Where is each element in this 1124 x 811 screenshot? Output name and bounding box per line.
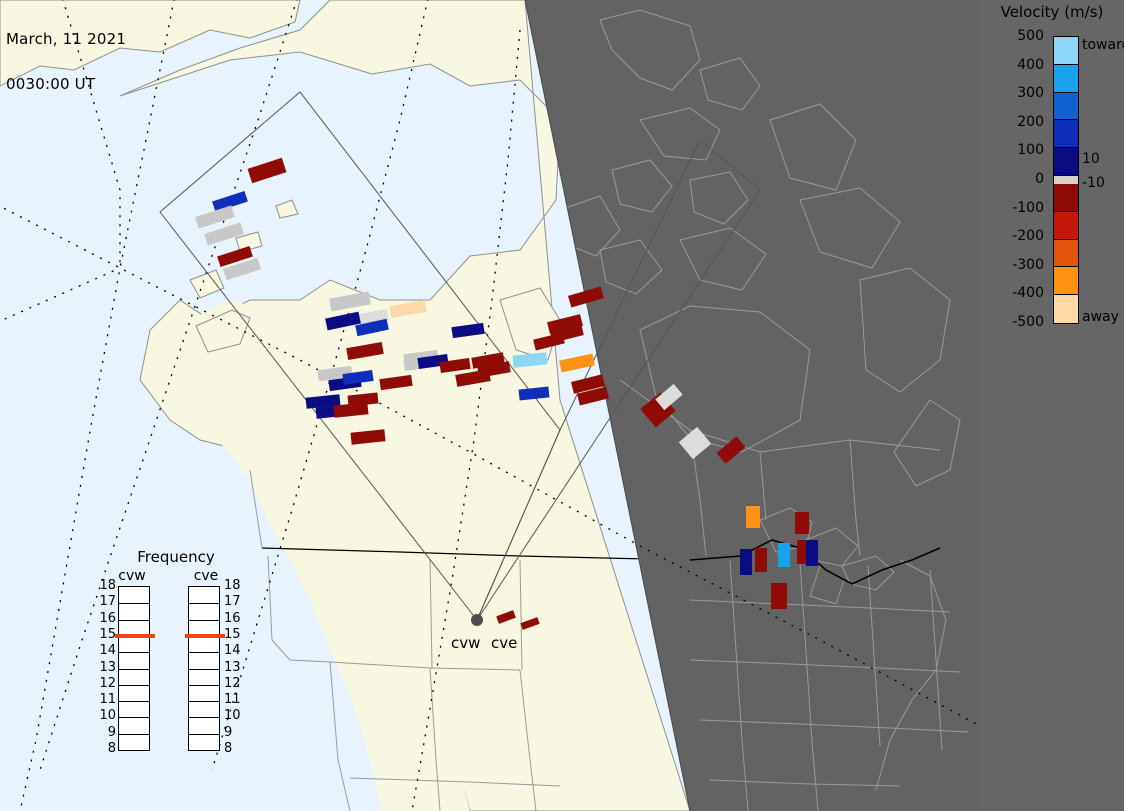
radar-site-label-cvw: cvw <box>451 634 480 652</box>
frequency-tick-cve-15: 15 <box>224 630 246 640</box>
velocity-gate-cell <box>740 549 752 575</box>
frequency-gridline <box>189 603 219 604</box>
frequency-gridline <box>119 620 149 621</box>
frequency-tick-cvw-12: 12 <box>94 679 116 689</box>
colorbar-tick--400: -400 <box>1012 286 1044 300</box>
colorbar-segment-0 <box>1054 37 1078 65</box>
frequency-gridline <box>119 669 149 670</box>
frequency-tick-cve-9: 9 <box>224 728 246 738</box>
colorbar-segment-2 <box>1054 93 1078 121</box>
frequency-ticklabels-cvw: 18171615141312111098 <box>94 586 116 751</box>
velocity-gate-cell <box>755 548 767 572</box>
frequency-gridline <box>189 669 219 670</box>
frequency-tick-cve-13: 13 <box>224 663 246 673</box>
frequency-gridline <box>189 734 219 735</box>
timestamp-time: 0030:00 UT <box>6 77 126 92</box>
colorbar-tick-400: 400 <box>1017 58 1044 72</box>
frequency-gridline <box>119 685 149 686</box>
frequency-tick-cvw-18: 18 <box>94 581 116 591</box>
colorbar-neutral-band <box>1054 176 1078 184</box>
frequency-tick-cve-8: 8 <box>224 744 246 754</box>
frequency-tick-cvw-11: 11 <box>94 695 116 705</box>
colorbar-title: Velocity (m/s) <box>978 3 1124 21</box>
frequency-column-cvw: cvw 18171615141312111098 <box>96 568 156 751</box>
colorbar-tick--200: -200 <box>1012 229 1044 243</box>
frequency-tick-cve-18: 18 <box>224 581 246 591</box>
velocity-gate-cell <box>746 506 760 528</box>
colorbar-away-label: away <box>1082 310 1119 324</box>
colorbar-tick-labels: 5004003002001000-100-200-300-400-500 <box>980 28 1048 328</box>
frequency-gridline <box>189 652 219 653</box>
velocity-gate-cell <box>778 543 790 567</box>
colorbar-tick--100: -100 <box>1012 201 1044 215</box>
frequency-tick-cvw-15: 15 <box>94 630 116 640</box>
colorbar-tick-200: 200 <box>1017 115 1044 129</box>
colorbar-side-labels: toward 10 -10 away <box>1082 28 1124 328</box>
frequency-column-label-cve: cve <box>188 568 224 584</box>
frequency-bar-cve <box>188 586 220 751</box>
colorbar-segment-1 <box>1054 65 1078 93</box>
colorbar-segment-9 <box>1054 267 1078 295</box>
frequency-tick-cvw-17: 17 <box>94 597 116 607</box>
superdarn-map-figure: cvw cve March, 11 2021 0030:00 UT Freque… <box>0 0 1124 811</box>
frequency-tick-cve-12: 12 <box>224 679 246 689</box>
frequency-column-label-cvw: cvw <box>114 568 150 584</box>
colorbar-toward-label: toward <box>1082 38 1124 52</box>
frequency-gridline <box>119 603 149 604</box>
colorbar-segment-7 <box>1054 212 1078 240</box>
frequency-tick-cve-11: 11 <box>224 695 246 705</box>
frequency-tick-cvw-9: 9 <box>94 728 116 738</box>
frequency-tick-cvw-10: 10 <box>94 711 116 721</box>
colorbar-tick-100: 100 <box>1017 143 1044 157</box>
frequency-tick-cvw-14: 14 <box>94 646 116 656</box>
frequency-tick-cvw-8: 8 <box>94 744 116 754</box>
colorbar-threshold-lower: -10 <box>1082 176 1105 190</box>
frequency-gridline <box>189 701 219 702</box>
colorbar-gradient[interactable] <box>1053 36 1079 324</box>
frequency-tick-cvw-13: 13 <box>94 663 116 673</box>
frequency-bar-cvw <box>118 586 150 751</box>
velocity-gate-cell <box>795 512 809 534</box>
frequency-gridline <box>189 620 219 621</box>
frequency-column-cve: cve 18171615141312111098 <box>174 568 234 751</box>
colorbar-tick-500: 500 <box>1017 29 1044 43</box>
radar-site-marker[interactable] <box>471 614 483 626</box>
frequency-tick-cve-14: 14 <box>224 646 246 656</box>
frequency-gridline <box>119 734 149 735</box>
velocity-gate-cell <box>771 583 787 609</box>
colorbar-segment-10 <box>1054 295 1078 323</box>
frequency-gridline <box>189 685 219 686</box>
colorbar-segment-6 <box>1054 184 1078 212</box>
frequency-marker-cvw <box>115 634 155 638</box>
radar-site-label-cve: cve <box>491 634 517 652</box>
colorbar-tick--300: -300 <box>1012 258 1044 272</box>
frequency-tick-cve-17: 17 <box>224 597 246 607</box>
velocity-gate-cell <box>806 540 818 566</box>
frequency-gridline <box>189 717 219 718</box>
colorbar-tick-0: 0 <box>1035 172 1044 186</box>
frequency-gridline <box>119 717 149 718</box>
frequency-title: Frequency <box>100 548 252 566</box>
frequency-gridline <box>119 652 149 653</box>
frequency-tick-cve-16: 16 <box>224 614 246 624</box>
timestamp: March, 11 2021 0030:00 UT <box>6 2 126 122</box>
colorbar-tick-300: 300 <box>1017 86 1044 100</box>
frequency-tick-cve-10: 10 <box>224 711 246 721</box>
colorbar-tick--500: -500 <box>1012 315 1044 329</box>
timestamp-date: March, 11 2021 <box>6 32 126 47</box>
colorbar-threshold-upper: 10 <box>1082 152 1100 166</box>
colorbar-segment-8 <box>1054 240 1078 268</box>
frequency-tick-cvw-16: 16 <box>94 614 116 624</box>
frequency-legend: Frequency cvw 18171615141312111098 cve 1… <box>96 548 256 768</box>
frequency-gridline <box>119 701 149 702</box>
colorbar-segment-3 <box>1054 120 1078 148</box>
colorbar-segment-4 <box>1054 148 1078 176</box>
frequency-ticklabels-cve: 18171615141312111098 <box>224 586 246 751</box>
colorbar-panel: Velocity (m/s) 5004003002001000-100-200-… <box>980 0 1124 811</box>
frequency-marker-cve <box>185 634 225 638</box>
